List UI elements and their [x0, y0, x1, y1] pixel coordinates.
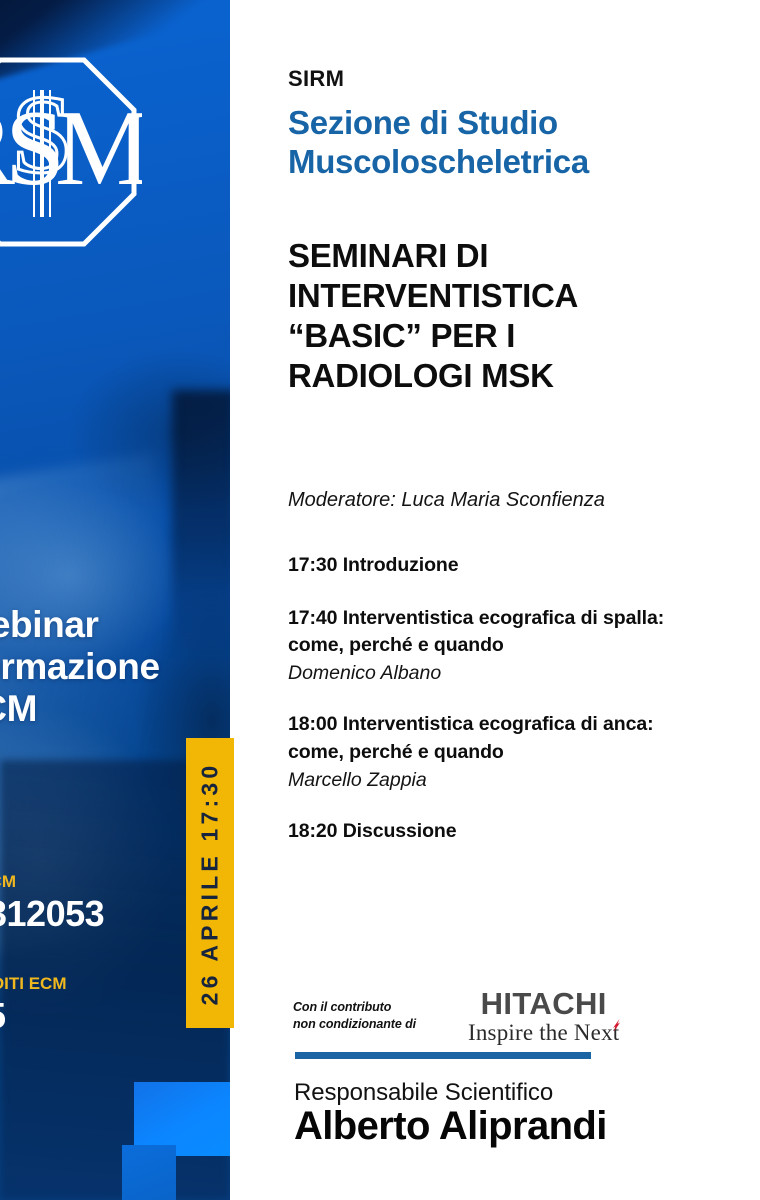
hitachi-tagline-wrap: Inspire the Next: [468, 1021, 619, 1044]
program-item: 18:00 Interventistica ecografica di anca…: [288, 711, 708, 793]
decorative-square-mid: [122, 1145, 176, 1200]
hitachi-accent-icon: [611, 1019, 621, 1032]
webinar-headline: Webinar Formazione ECM: [0, 604, 230, 731]
program-item-title: 18:00 Interventistica ecografica di anca…: [288, 711, 708, 766]
sponsor-block: Con il contributo non condizionante di H…: [293, 988, 619, 1044]
moderator-line: Moderatore: Luca Maria Sconfienza: [288, 487, 708, 513]
responsible-name: Alberto Aliprandi: [294, 1104, 607, 1149]
hitachi-tagline: Inspire the Next: [468, 1020, 619, 1045]
organization-name: SIRM: [288, 66, 344, 92]
ecm-id-label: ID ECM: [0, 873, 206, 892]
content-column: SIRM Sezione di Studio Muscoloscheletric…: [288, 0, 708, 1200]
date-banner: 26 APRILE 17:30: [186, 738, 234, 1028]
ecm-credits-label: CREDITI ECM: [0, 975, 206, 994]
program-item: 17:40 Interventistica ecografica di spal…: [288, 605, 708, 687]
program-item: 18:20 Discussione: [288, 818, 708, 846]
sirm-logo-icon: RSM S: [0, 52, 142, 252]
hitachi-logo: HITACHI Inspire the Next: [468, 988, 619, 1044]
ecm-id-value: 1-312053: [0, 894, 206, 934]
program-item-title: 18:20 Discussione: [288, 818, 708, 846]
program-list: 17:30 Introduzione 17:40 Interventistica…: [288, 552, 708, 870]
footer-rule: [295, 1052, 591, 1059]
ecm-id-block: ID ECM 1-312053: [0, 873, 206, 933]
section-name: Sezione di Studio Muscoloscheletrica: [288, 104, 708, 181]
sponsor-contribution-text: Con il contributo non condizionante di: [293, 999, 416, 1034]
program-item: 17:30 Introduzione: [288, 552, 708, 580]
responsible-label: Responsabile Scientifico: [294, 1079, 553, 1107]
hitachi-wordmark: HITACHI: [468, 988, 619, 1019]
date-banner-text: 26 APRILE 17:30: [197, 761, 224, 1005]
ecm-credits-block: CREDITI ECM 1,5: [0, 975, 206, 1035]
program-item-speaker: Marcello Zappia: [288, 767, 708, 793]
page-title: SEMINARI DI INTERVENTISTICA “BASIC” PER …: [288, 236, 708, 396]
program-item-speaker: Domenico Albano: [288, 660, 708, 686]
poster-root: RSM S Webinar Formazione ECM ID ECM 1-31…: [0, 0, 760, 1200]
ecm-credits-value: 1,5: [0, 996, 206, 1036]
program-item-title: 17:40 Interventistica ecografica di spal…: [288, 605, 708, 660]
program-item-title: 17:30 Introduzione: [288, 552, 708, 580]
